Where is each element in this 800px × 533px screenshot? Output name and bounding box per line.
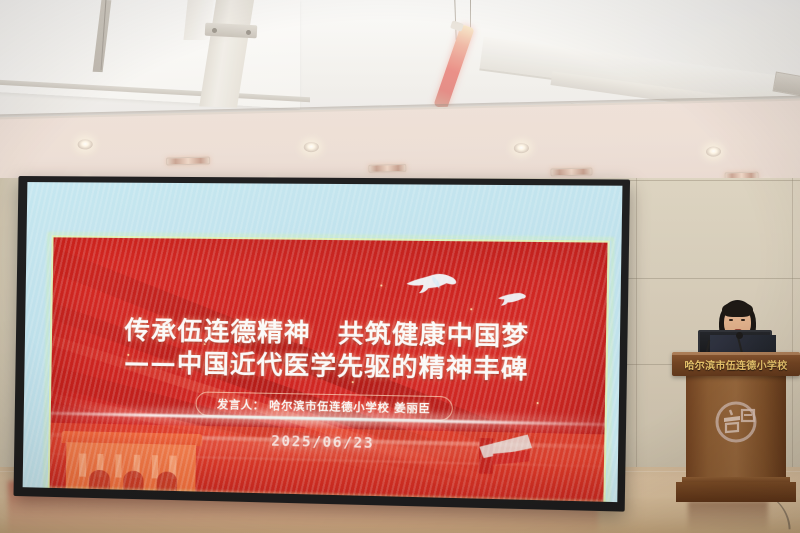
- speaker-eye: [741, 319, 745, 321]
- led-screen-panel: 传承伍连德精神 共筑健康中国梦 ——中国近代医学先驱的精神丰碑 发言人： 哈尔滨…: [23, 182, 623, 502]
- downlight-icon: [78, 139, 93, 149]
- podium-sign-text: 哈尔滨市伍连德小学校: [672, 357, 800, 372]
- led-screen-bezel: 传承伍连德精神 共筑健康中国梦 ——中国近代医学先驱的精神丰碑 发言人： 哈尔滨…: [13, 176, 630, 512]
- speaker-fringe: [722, 302, 753, 317]
- downlight-icon: [304, 142, 319, 152]
- downlight-icon: [706, 146, 721, 156]
- podium-sign-highlight: [672, 352, 800, 355]
- school-seal-emblem: [713, 398, 759, 444]
- ceiling-wire-tube-a: [470, 0, 471, 28]
- bracket-bolt: [212, 28, 217, 33]
- linear-light-icon: [368, 164, 406, 173]
- podium: 哈尔滨市伍连德小学校: [672, 352, 800, 502]
- microphone-head: [736, 332, 743, 339]
- photo-scene: 传承伍连德精神 共筑健康中国梦 ——中国近代医学先驱的精神丰碑 发言人： 哈尔滨…: [0, 0, 800, 533]
- downlight-icon: [514, 143, 529, 153]
- linear-light-icon: [550, 167, 592, 176]
- speaker-eye: [729, 319, 733, 321]
- led-screen[interactable]: 传承伍连德精神 共筑健康中国梦 ——中国近代医学先驱的精神丰碑 发言人： 哈尔滨…: [13, 176, 630, 512]
- led-pixel-texture: [23, 182, 623, 502]
- podium-base: [676, 482, 796, 502]
- bracket-bolt: [246, 30, 251, 35]
- wall-panel-edge: [636, 178, 637, 478]
- linear-light-icon: [166, 156, 210, 165]
